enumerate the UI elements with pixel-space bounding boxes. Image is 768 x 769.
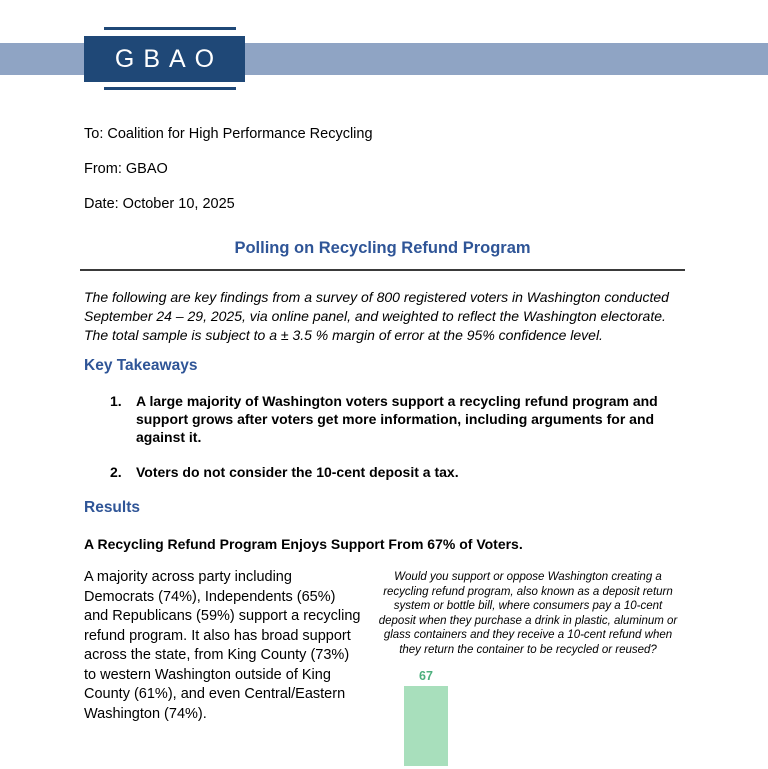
document-title: Polling on Recycling Refund Program: [80, 239, 685, 258]
logo-text: GBAO: [106, 45, 223, 74]
memo-to-line: To: Coalition for High Performance Recyc…: [84, 126, 684, 142]
bar-value-label: 67: [404, 669, 448, 683]
memo-from-line: From: GBAO: [84, 161, 684, 177]
document-header: GBAO: [0, 0, 768, 110]
memo-meta-block: To: Coalition for High Performance Recyc…: [84, 126, 684, 231]
methodology-note: The following are key findings from a su…: [84, 288, 674, 345]
results-subheading: A Recycling Refund Program Enjoys Suppor…: [84, 536, 523, 552]
bar-chart: 67: [378, 669, 678, 769]
list-item-text: A large majority of Washington voters su…: [136, 392, 685, 446]
title-divider-rule: [80, 269, 685, 271]
bar-rect-support: [404, 686, 448, 766]
results-heading: Results: [84, 499, 140, 517]
logo-rule-bottom: [104, 87, 236, 90]
key-takeaways-list: 1. A large majority of Washington voters…: [110, 392, 685, 498]
list-item-number: 1.: [110, 392, 136, 446]
list-item-text: Voters do not consider the 10-cent depos…: [136, 463, 685, 481]
list-item: 2. Voters do not consider the 10-cent de…: [110, 463, 685, 481]
bar-group-support: 67: [404, 669, 448, 766]
list-item-number: 2.: [110, 463, 136, 481]
list-item: 1. A large majority of Washington voters…: [110, 392, 685, 446]
chart-panel: Would you support or oppose Washington c…: [378, 570, 678, 769]
key-takeaways-heading: Key Takeaways: [84, 357, 197, 375]
gbao-logo: GBAO: [84, 36, 245, 82]
logo-rule-top: [104, 27, 236, 30]
memo-date-line: Date: October 10, 2025: [84, 196, 684, 212]
results-body-paragraph: A majority across party including Democr…: [84, 568, 362, 724]
chart-question-text: Would you support or oppose Washington c…: [378, 570, 678, 657]
